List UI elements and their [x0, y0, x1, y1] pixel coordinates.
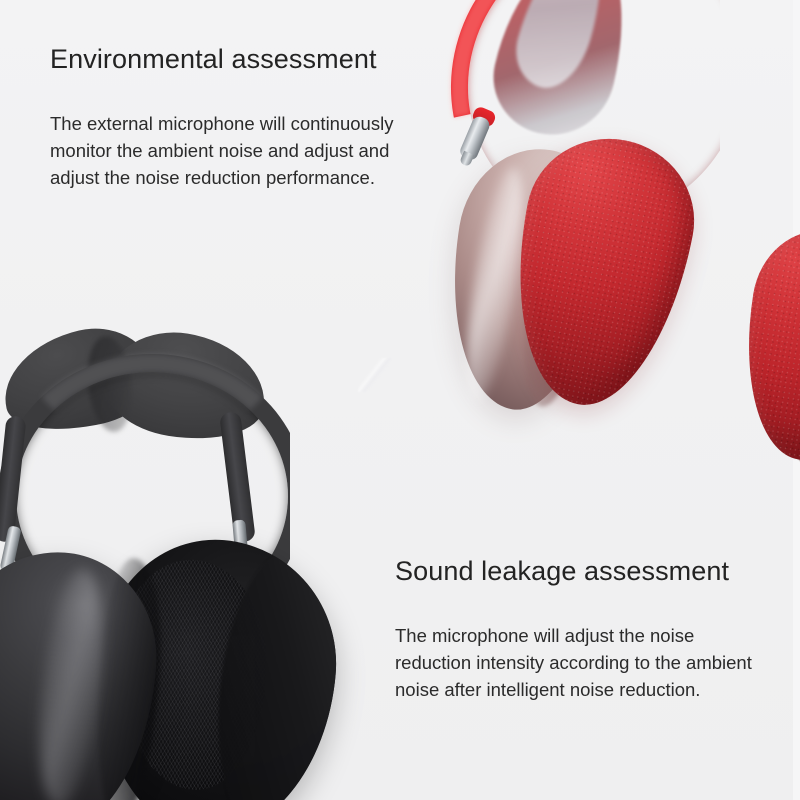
environmental-assessment-heading: Environmental assessment — [50, 44, 393, 75]
product-feature-image: Environmental assessment The external mi… — [0, 0, 800, 800]
body-line: monitor the ambient noise and adjust and — [50, 137, 393, 164]
sound-leakage-assessment-heading: Sound leakage assessment — [395, 556, 752, 587]
body-line: noise after intelligent noise reduction. — [395, 676, 752, 703]
sound-leakage-assessment-block: Sound leakage assessment The microphone … — [395, 556, 752, 703]
red-leather-ear-cushion-secondary — [729, 221, 800, 469]
sound-leakage-assessment-body: The microphone will adjust the noise red… — [395, 622, 752, 703]
leather-grain-texture — [729, 221, 800, 469]
body-line: adjust the noise reduction performance. — [50, 164, 393, 191]
body-line: reduction intensity according to the amb… — [395, 649, 752, 676]
black-headphones-image — [0, 320, 370, 800]
environmental-assessment-body: The external microphone will continuousl… — [50, 110, 393, 191]
body-line: The microphone will adjust the noise — [395, 622, 752, 649]
body-line: The external microphone will continuousl… — [50, 110, 393, 137]
environmental-assessment-block: Environmental assessment The external mi… — [50, 44, 393, 191]
red-headphones-image — [430, 0, 800, 450]
